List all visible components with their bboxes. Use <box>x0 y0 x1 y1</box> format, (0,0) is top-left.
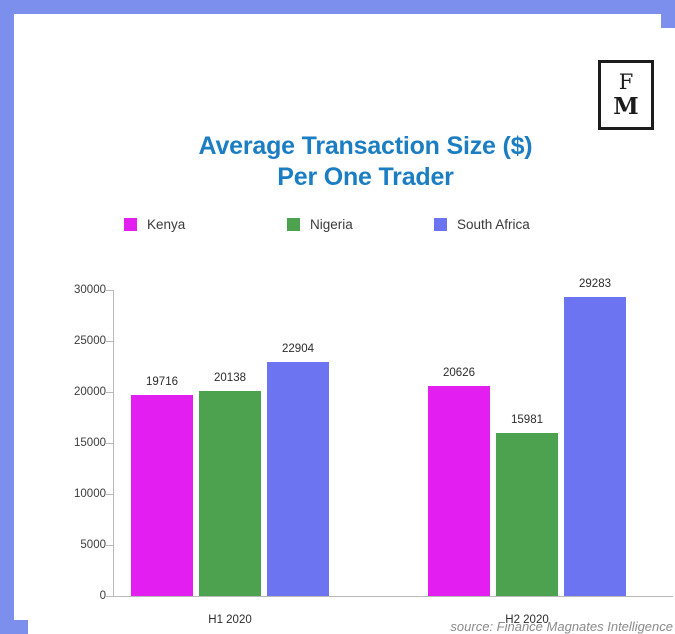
poster-card: F M Average Transaction Size ($) Per One… <box>28 28 675 634</box>
plot-area: 197162013822904H1 2020206261598129283H2 … <box>113 290 673 596</box>
legend-swatch-nigeria <box>287 218 300 231</box>
legend-label-nigeria: Nigeria <box>310 217 353 232</box>
y-axis-tick <box>106 290 113 291</box>
legend-swatch-south-africa <box>434 218 447 231</box>
y-axis-tick-label: 25000 <box>28 335 106 347</box>
y-axis-tick-label: 10000 <box>28 488 106 500</box>
legend-item-nigeria: Nigeria <box>287 213 353 235</box>
y-axis-tick <box>106 494 113 495</box>
bar-south-africa-h1-2020 <box>267 362 329 596</box>
y-axis-line <box>113 290 114 596</box>
y-axis-tick <box>106 392 113 393</box>
y-axis-tick <box>106 341 113 342</box>
legend-label-kenya: Kenya <box>147 217 185 232</box>
chart-legend: Kenya Nigeria South Africa <box>124 213 594 235</box>
bar-nigeria-h2-2020 <box>496 433 558 596</box>
bar-value-label: 22904 <box>282 343 314 355</box>
bar-nigeria-h1-2020 <box>199 391 261 596</box>
bar-value-label: 20626 <box>443 367 475 379</box>
bar-value-label: 19716 <box>146 376 178 388</box>
fm-logo-letter-f: F <box>619 72 634 93</box>
y-axis-labels: 050001000015000200002500030000 <box>28 258 106 588</box>
y-axis-tick-label: 15000 <box>28 437 106 449</box>
chart-title-line-2: Per One Trader <box>28 162 675 193</box>
poster-frame: F M Average Transaction Size ($) Per One… <box>0 0 675 634</box>
x-axis-line <box>113 596 673 597</box>
bar-chart: 050001000015000200002500030000 197162013… <box>28 258 675 588</box>
chart-title-line-1: Average Transaction Size ($) <box>28 131 675 162</box>
bar-kenya-h2-2020 <box>428 386 490 596</box>
fm-logo: F M <box>598 60 654 130</box>
y-axis-tick <box>106 545 113 546</box>
bar-value-label: 29283 <box>579 278 611 290</box>
y-axis-tick-label: 30000 <box>28 284 106 296</box>
chart-title: Average Transaction Size ($) Per One Tra… <box>28 131 675 193</box>
legend-label-south-africa: South Africa <box>457 217 530 232</box>
source-attribution: source: Finance Magnates Intelligence <box>28 619 673 634</box>
legend-item-kenya: Kenya <box>124 213 185 235</box>
y-axis-tick <box>106 443 113 444</box>
bar-kenya-h1-2020 <box>131 395 193 596</box>
y-axis-tick-label: 5000 <box>28 539 106 551</box>
bar-value-label: 15981 <box>511 414 543 426</box>
fm-logo-letter-m: M <box>613 95 638 118</box>
bar-south-africa-h2-2020 <box>564 297 626 596</box>
bar-value-label: 20138 <box>214 372 246 384</box>
legend-item-south-africa: South Africa <box>434 213 530 235</box>
y-axis-tick-label: 0 <box>28 590 106 602</box>
y-axis-tick <box>106 596 113 597</box>
legend-swatch-kenya <box>124 218 137 231</box>
y-axis-tick-label: 20000 <box>28 386 106 398</box>
